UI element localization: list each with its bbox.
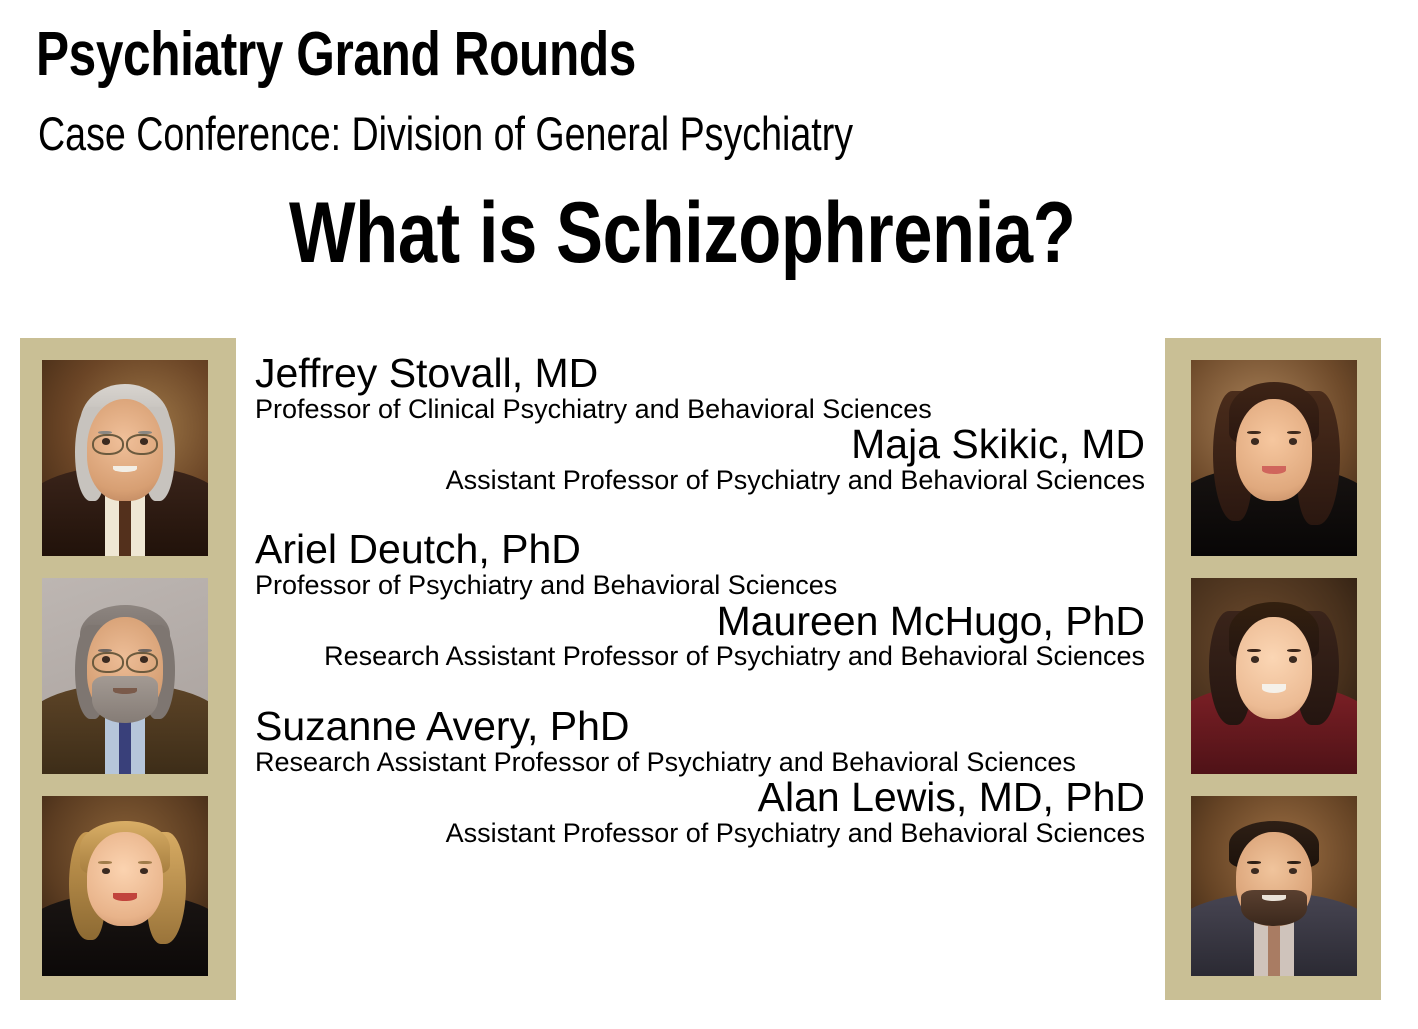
photo-ariel-deutch: [42, 578, 208, 774]
photo-maureen-mchugo: [1191, 578, 1357, 774]
page-title: What is Schizophrenia?: [289, 190, 1075, 276]
eyeglasses-icon: [92, 434, 158, 452]
series-heading: Psychiatry Grand Rounds: [36, 24, 636, 86]
speaker-role: Research Assistant Professor of Psychiat…: [255, 748, 1145, 777]
speaker-entry: Suzanne Avery, PhD Research Assistant Pr…: [255, 705, 1145, 776]
speaker-name: Jeffrey Stovall, MD: [255, 352, 1145, 395]
left-photo-column: [20, 338, 236, 1000]
speaker-name: Alan Lewis, MD, PhD: [255, 776, 1145, 819]
speaker-entry: Ariel Deutch, PhD Professor of Psychiatr…: [255, 528, 1145, 599]
speaker-entry: Maureen McHugo, PhD Research Assistant P…: [255, 600, 1145, 671]
speaker-entry: Alan Lewis, MD, PhD Assistant Professor …: [255, 776, 1145, 847]
grand-rounds-poster: Psychiatry Grand Rounds Case Conference:…: [0, 0, 1418, 1029]
speaker-role: Assistant Professor of Psychiatry and Be…: [255, 466, 1145, 495]
photo-alan-lewis: [1191, 796, 1357, 976]
speaker-name: Maureen McHugo, PhD: [255, 600, 1145, 643]
speaker-role: Professor of Psychiatry and Behavioral S…: [255, 571, 1145, 600]
speaker-role: Research Assistant Professor of Psychiat…: [255, 642, 1145, 671]
speaker-list: Jeffrey Stovall, MD Professor of Clinica…: [255, 352, 1145, 847]
speaker-entry: Jeffrey Stovall, MD Professor of Clinica…: [255, 352, 1145, 423]
speaker-entry: Maja Skikic, MD Assistant Professor of P…: [255, 423, 1145, 494]
speaker-name: Ariel Deutch, PhD: [255, 528, 1145, 571]
photo-jeffrey-stovall: [42, 360, 208, 556]
speaker-name: Suzanne Avery, PhD: [255, 705, 1145, 748]
speaker-role: Assistant Professor of Psychiatry and Be…: [255, 819, 1145, 848]
right-photo-column: [1165, 338, 1381, 1000]
speaker-role: Professor of Clinical Psychiatry and Beh…: [255, 395, 1145, 424]
photo-suzanne-avery: [42, 796, 208, 976]
eyeglasses-icon: [92, 652, 158, 670]
series-subheading: Case Conference: Division of General Psy…: [38, 110, 853, 157]
speaker-name: Maja Skikic, MD: [255, 423, 1145, 466]
photo-maja-skikic: [1191, 360, 1357, 556]
